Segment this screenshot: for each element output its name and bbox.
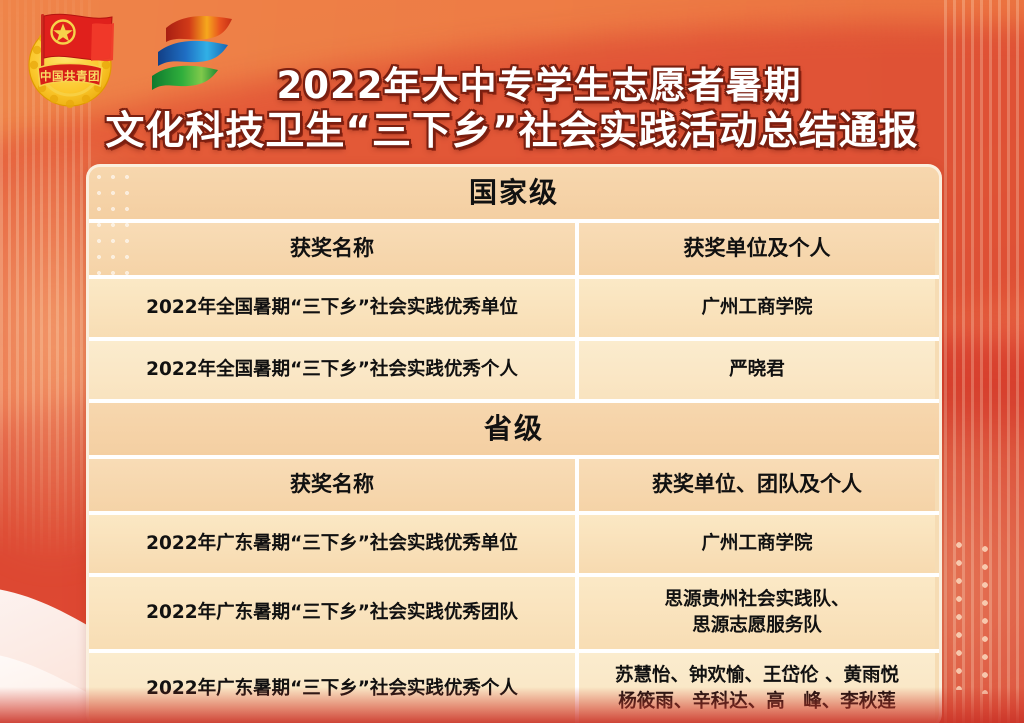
award-name-cell: 2022年广东暑期“三下乡”社会实践优秀团队 xyxy=(89,577,579,649)
award-table-card: 国家级 获奖名称 获奖单位及个人 2022年全国暑期“三下乡”社会实践优秀单位 … xyxy=(86,164,942,723)
recipient-cell: 苏慧怡、钟欢愉、王岱伦 、黄雨悦 杨筱雨、辛科达、高 峰、李秋莲 xyxy=(579,653,935,723)
recipient-line: 思源贵州社会实践队、 xyxy=(664,587,849,613)
table-row: 2022年全国暑期“三下乡”社会实践优秀单位 广州工商学院 xyxy=(89,279,939,341)
section-heading-national: 国家级 xyxy=(89,167,939,219)
recipient-line: 苏慧怡、钟欢愉、王岱伦 、黄雨悦 xyxy=(615,663,899,689)
section-heading-provincial: 省级 xyxy=(89,403,939,455)
award-name-cell: 2022年全国暑期“三下乡”社会实践优秀单位 xyxy=(89,279,579,337)
svg-text:中国共青团: 中国共青团 xyxy=(40,69,100,83)
column-header-row-national: 获奖名称 获奖单位及个人 xyxy=(89,223,939,279)
column-header-award-name-provincial: 获奖名称 xyxy=(89,459,579,511)
column-header-award-name-national: 获奖名称 xyxy=(89,223,579,275)
dot-column xyxy=(980,544,990,694)
recipient-line: 思源志愿服务队 xyxy=(692,613,822,639)
communist-youth-league-emblem-icon: 中国共青团 xyxy=(18,8,122,112)
table-row: 2022年广东暑期“三下乡”社会实践优秀单位 广州工商学院 xyxy=(89,515,939,577)
recipient-cell: 思源贵州社会实践队、 思源志愿服务队 xyxy=(579,577,935,649)
award-name-cell: 2022年广东暑期“三下乡”社会实践优秀单位 xyxy=(89,515,579,573)
column-header-recipient-provincial: 获奖单位、团队及个人 xyxy=(579,459,935,511)
table-row: 2022年广东暑期“三下乡”社会实践优秀团队 思源贵州社会实践队、 思源志愿服务… xyxy=(89,577,939,653)
dot-column xyxy=(954,540,964,690)
award-name-cell: 2022年广东暑期“三下乡”社会实践优秀个人 xyxy=(89,653,579,723)
recipient-cell: 广州工商学院 xyxy=(579,515,935,573)
section-header-row-national: 国家级 xyxy=(89,167,939,223)
recipient-line: 杨筱雨、辛科达、高 峰、李秋莲 xyxy=(618,689,896,715)
decorative-dots-right xyxy=(954,540,1002,690)
section-header-row-provincial: 省级 xyxy=(89,403,939,459)
poster-root: 中国共青团 xyxy=(0,0,1024,723)
recipient-cell: 广州工商学院 xyxy=(579,279,935,337)
table-row: 2022年全国暑期“三下乡”社会实践优秀个人 严晓君 xyxy=(89,341,939,403)
table-row: 2022年广东暑期“三下乡”社会实践优秀个人 苏慧怡、钟欢愉、王岱伦 、黄雨悦 … xyxy=(89,653,939,723)
recipient-cell: 严晓君 xyxy=(579,341,935,399)
tri-color-ribbon-logo-icon xyxy=(140,8,252,104)
column-header-row-provincial: 获奖名称 获奖单位、团队及个人 xyxy=(89,459,939,515)
award-name-cell: 2022年全国暑期“三下乡”社会实践优秀个人 xyxy=(89,341,579,399)
column-header-recipient-national: 获奖单位及个人 xyxy=(579,223,935,275)
